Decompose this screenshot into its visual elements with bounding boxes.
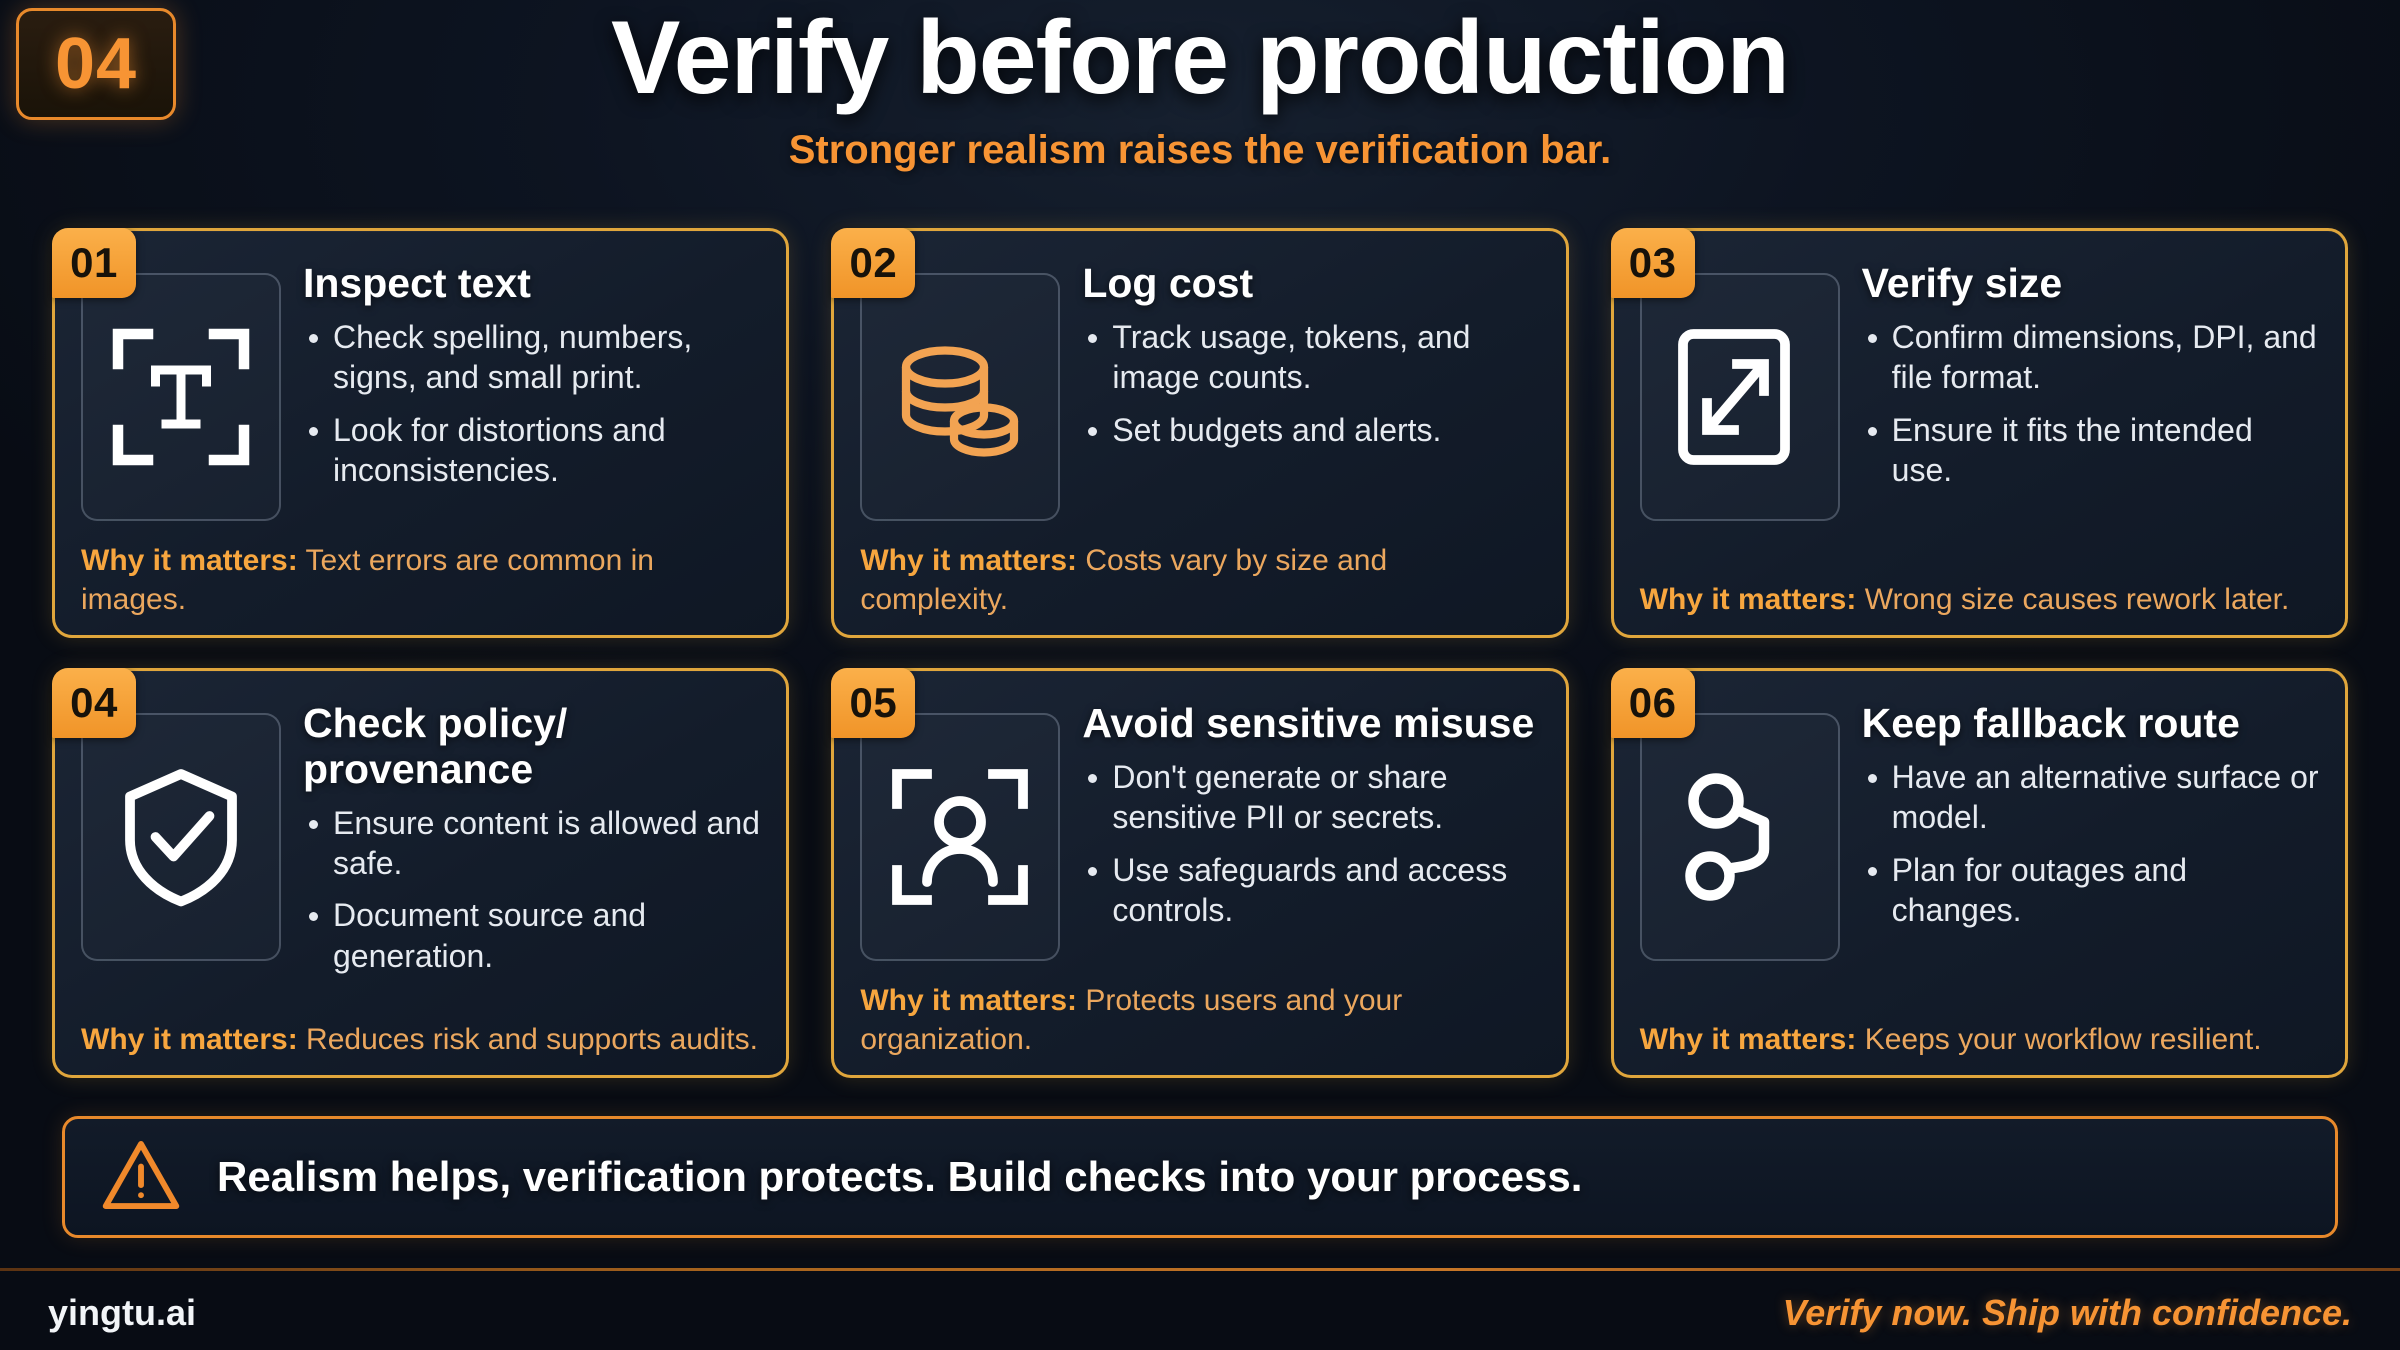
card-number-label: 04 xyxy=(70,679,118,727)
card-number-badge: 04 xyxy=(52,668,136,738)
card-icon-tile xyxy=(860,273,1060,521)
card-number-label: 02 xyxy=(849,239,897,287)
list-item: Ensure content is allowed and safe. xyxy=(303,803,760,884)
card-number-label: 05 xyxy=(849,679,897,727)
slide-header: 04 Verify before production Stronger rea… xyxy=(0,0,2400,218)
why-label: Why it matters: xyxy=(860,984,1077,1017)
card-number-badge: 02 xyxy=(831,228,915,298)
card-title: Keep fallback route xyxy=(1862,701,2319,747)
text-scan-icon xyxy=(106,322,256,472)
why-label: Why it matters: xyxy=(860,544,1077,577)
route-branch-icon xyxy=(1665,762,1815,912)
list-item: Document source and generation. xyxy=(303,895,760,976)
card-bullet-list: Have an alternative surface or model. Pl… xyxy=(1862,757,2319,930)
list-item: Set budgets and alerts. xyxy=(1082,410,1539,450)
why-label: Why it matters: xyxy=(81,544,298,577)
card-bullet-list: Confirm dimensions, DPI, and file format… xyxy=(1862,317,2319,490)
why-text: Wrong size causes rework later. xyxy=(1865,583,2290,616)
slide-footer: yingtu.ai Verify now. Ship with confiden… xyxy=(0,1276,2400,1350)
resize-diagonal-icon xyxy=(1665,322,1815,472)
section-number-badge: 04 xyxy=(16,8,176,120)
brand-label: yingtu.ai xyxy=(48,1292,196,1334)
card-title: Log cost xyxy=(1082,261,1539,307)
card-bullet-list: Don't generate or share sensitive PII or… xyxy=(1082,757,1539,930)
card-bullet-list: Check spelling, numbers, signs, and smal… xyxy=(303,317,760,490)
card-check-policy-provenance[interactable]: 04 Check policy/ provenance Ensure conte… xyxy=(52,668,789,1078)
list-item: Use safeguards and access controls. xyxy=(1082,850,1539,931)
page-subtitle: Stronger realism raises the verification… xyxy=(0,128,2400,173)
card-bullet-list: Ensure content is allowed and safe. Docu… xyxy=(303,803,760,976)
card-number-badge: 03 xyxy=(1611,228,1695,298)
why-label: Why it matters: xyxy=(81,1023,298,1056)
list-item: Don't generate or share sensitive PII or… xyxy=(1082,757,1539,838)
card-grid: 01 Inspect text Check spelling, n xyxy=(52,228,2348,1078)
card-number-label: 03 xyxy=(1629,239,1677,287)
card-avoid-sensitive-misuse[interactable]: 05 Avoid sensitive misuse xyxy=(831,668,1568,1078)
card-number-badge: 05 xyxy=(831,668,915,738)
footer-cta-text: Verify now. Ship with confidence. xyxy=(1783,1292,2352,1334)
card-log-cost[interactable]: 02 Log cost xyxy=(831,228,1568,638)
card-why-it-matters: Why it matters: Keeps your workflow resi… xyxy=(1640,1020,2319,1059)
why-text: Keeps your workflow resilient. xyxy=(1865,1023,2262,1056)
card-title: Inspect text xyxy=(303,261,760,307)
list-item: Look for distortions and inconsistencies… xyxy=(303,410,760,491)
list-item: Check spelling, numbers, signs, and smal… xyxy=(303,317,760,398)
why-text: Reduces risk and supports audits. xyxy=(306,1023,758,1056)
card-icon-tile xyxy=(81,713,281,961)
list-item: Track usage, tokens, and image counts. xyxy=(1082,317,1539,398)
card-verify-size[interactable]: 03 Verify size Con xyxy=(1611,228,2348,638)
card-why-it-matters: Why it matters: Text errors are common i… xyxy=(81,541,760,619)
list-item: Have an alternative surface or model. xyxy=(1862,757,2319,838)
why-label: Why it matters: xyxy=(1640,583,1857,616)
card-icon-tile xyxy=(81,273,281,521)
section-number-label: 04 xyxy=(55,23,137,105)
card-icon-tile xyxy=(860,713,1060,961)
card-keep-fallback-route[interactable]: 06 Keep fallback route Have an al xyxy=(1611,668,2348,1078)
footer-divider xyxy=(0,1268,2400,1271)
card-number-label: 01 xyxy=(70,239,118,287)
person-scan-icon xyxy=(885,762,1035,912)
shield-check-icon xyxy=(106,762,256,912)
summary-banner: Realism helps, verification protects. Bu… xyxy=(62,1116,2338,1238)
card-title: Check policy/ provenance xyxy=(303,701,760,793)
list-item: Plan for outages and changes. xyxy=(1862,850,2319,931)
summary-banner-text: Realism helps, verification protects. Bu… xyxy=(217,1153,1582,1201)
card-icon-tile xyxy=(1640,713,1840,961)
list-item: Ensure it fits the intended use. xyxy=(1862,410,2319,491)
slide-root: 04 Verify before production Stronger rea… xyxy=(0,0,2400,1350)
card-why-it-matters: Why it matters: Wrong size causes rework… xyxy=(1640,580,2319,619)
card-number-badge: 01 xyxy=(52,228,136,298)
card-why-it-matters: Why it matters: Reduces risk and support… xyxy=(81,1020,760,1059)
warning-triangle-icon xyxy=(99,1133,183,1222)
list-item: Confirm dimensions, DPI, and file format… xyxy=(1862,317,2319,398)
card-bullet-list: Track usage, tokens, and image counts. S… xyxy=(1082,317,1539,450)
card-why-it-matters: Why it matters: Protects users and your … xyxy=(860,981,1539,1059)
page-title: Verify before production xyxy=(0,0,2400,114)
why-label: Why it matters: xyxy=(1640,1023,1857,1056)
card-why-it-matters: Why it matters: Costs vary by size and c… xyxy=(860,541,1539,619)
card-title: Verify size xyxy=(1862,261,2319,307)
card-icon-tile xyxy=(1640,273,1840,521)
card-number-label: 06 xyxy=(1629,679,1677,727)
coin-stack-icon xyxy=(885,322,1035,472)
card-inspect-text[interactable]: 01 Inspect text Check spelling, n xyxy=(52,228,789,638)
card-title: Avoid sensitive misuse xyxy=(1082,701,1539,747)
card-number-badge: 06 xyxy=(1611,668,1695,738)
